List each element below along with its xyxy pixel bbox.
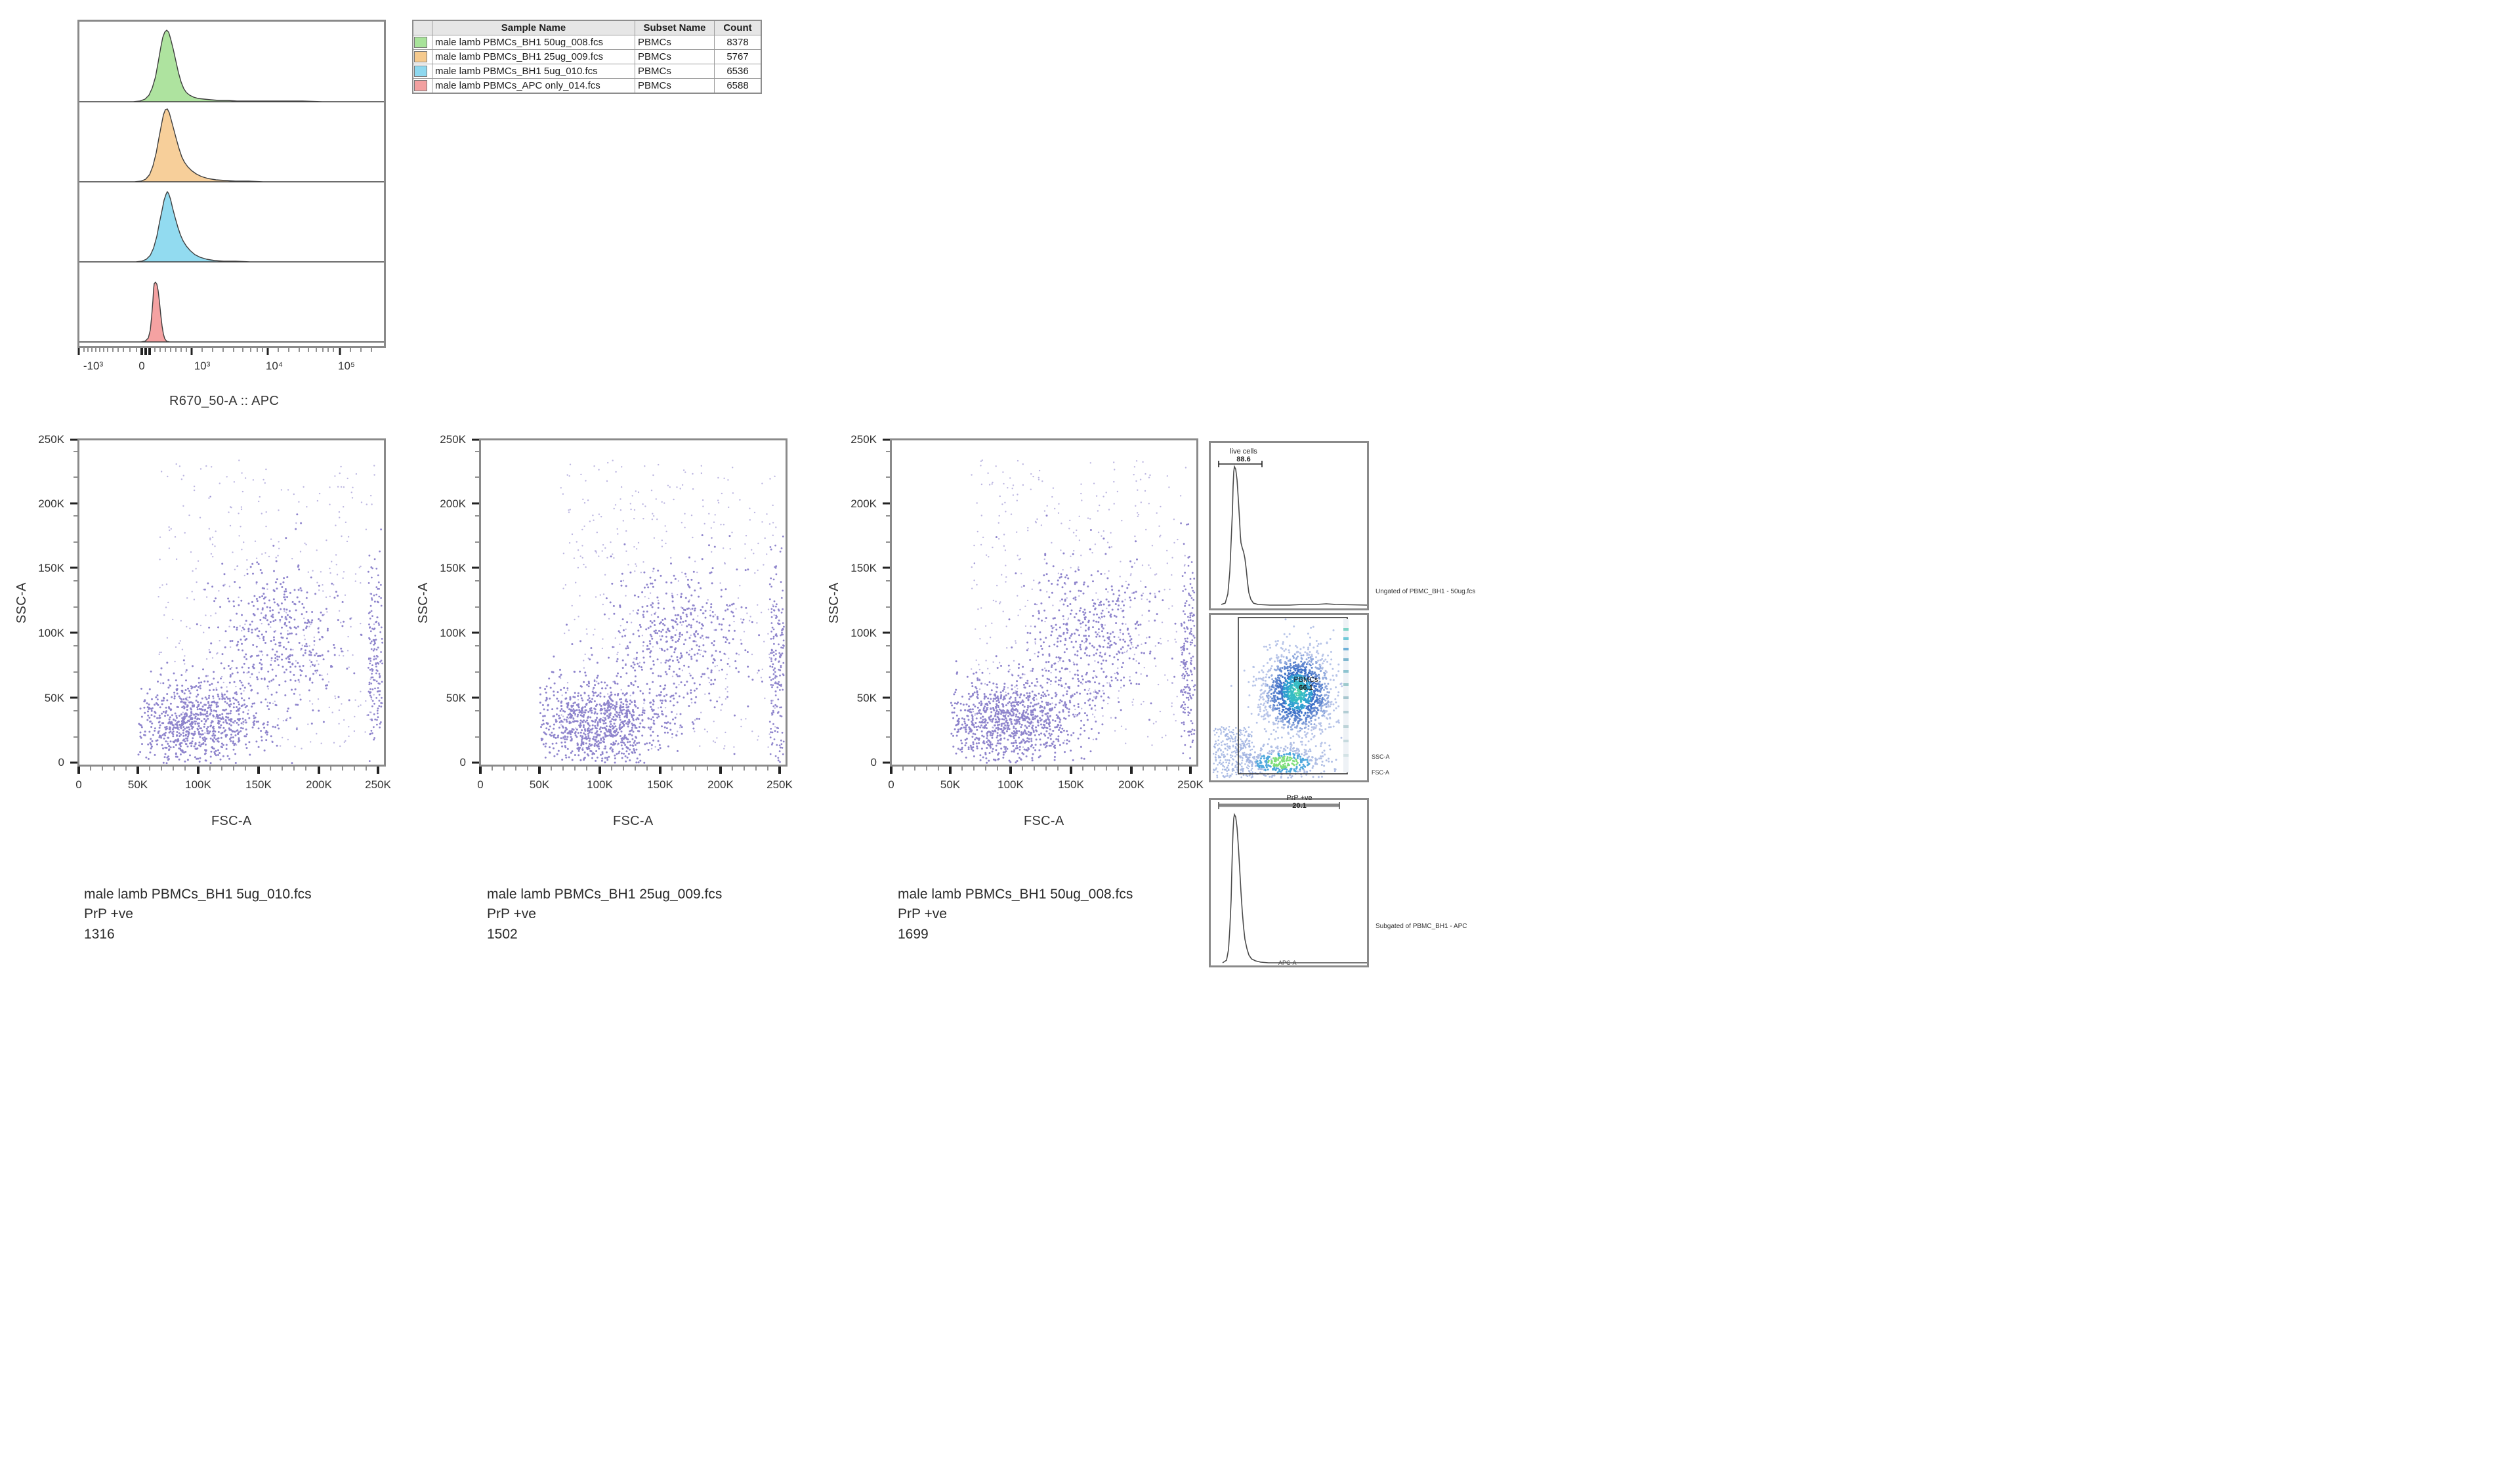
scatter-2-y-axis-label: SSC-A bbox=[416, 582, 431, 623]
gating-panel-top[interactable] bbox=[1209, 441, 1369, 610]
scatter-1-xtick-4: 200K bbox=[304, 778, 333, 792]
scatter-2-xtick-1: 50K bbox=[525, 778, 554, 792]
gate-label-top: live cells bbox=[1224, 448, 1263, 455]
scatter-plot-1-x-axis bbox=[77, 767, 386, 776]
legend-count: 8378 bbox=[715, 35, 762, 50]
scatter-1-xtick-5: 250K bbox=[364, 778, 392, 792]
legend-body: male lamb PBMCs_BH1 50ug_008.fcs PBMCs 8… bbox=[413, 35, 761, 94]
scatter-plot-1[interactable] bbox=[77, 438, 386, 767]
scatter-3-xtick-1: 50K bbox=[936, 778, 965, 792]
density-colour-scale bbox=[1343, 619, 1349, 772]
scatter-3-xtick-3: 150K bbox=[1057, 778, 1085, 792]
legend-header-row: Sample Name Subset Name Count bbox=[413, 20, 761, 35]
gating-bottom-x-axis-label: APC-A bbox=[1278, 960, 1297, 966]
scatter-plot-3-x-axis bbox=[890, 767, 1198, 776]
gating-annotation-bottom: Subgated of PBMC_BH1 - APC bbox=[1375, 923, 1467, 930]
scatter-2-ytick-4: 200K bbox=[436, 497, 466, 511]
legend-header-subset-name: Subset Name bbox=[635, 20, 715, 35]
legend-sample-name: male lamb PBMCs_BH1 5ug_010.fcs bbox=[432, 64, 635, 79]
legend-count: 6536 bbox=[715, 64, 762, 79]
histogram-xtick-3: 10⁴ bbox=[260, 360, 289, 373]
histogram-series-red bbox=[79, 282, 384, 342]
histogram-overlay-svg bbox=[79, 22, 384, 346]
scatter-3-caption-gate: PrP +ve bbox=[898, 904, 1133, 924]
scatter-3-caption: male lamb PBMCs_BH1 50ug_008.fcs PrP +ve… bbox=[898, 885, 1133, 944]
scatter-1-ytick-2: 100K bbox=[34, 627, 64, 640]
scatter-2-xtick-3: 150K bbox=[646, 778, 675, 792]
histogram-overlay-panel[interactable] bbox=[77, 20, 386, 348]
gate-label-bottom-group: PrP +ve 20.1 bbox=[1280, 794, 1319, 810]
histogram-xtick-4: 10⁵ bbox=[332, 360, 361, 373]
legend-swatch-cell[interactable] bbox=[413, 79, 432, 94]
legend-header-count: Count bbox=[715, 20, 762, 35]
scatter-1-ytick-3: 150K bbox=[34, 562, 64, 575]
histogram-x-ticks bbox=[77, 348, 386, 357]
scatter-2-ytick-1: 50K bbox=[436, 692, 466, 705]
scatter-plot-1-y-axis bbox=[66, 438, 77, 767]
scatter-3-x-axis-label: FSC-A bbox=[1024, 814, 1064, 829]
table-row[interactable]: male lamb PBMCs_BH1 50ug_008.fcs PBMCs 8… bbox=[413, 35, 761, 50]
scatter-1-ytick-4: 200K bbox=[34, 497, 64, 511]
legend-sample-name: male lamb PBMCs_APC only_014.fcs bbox=[432, 79, 635, 94]
scatter-2-ytick-0: 0 bbox=[436, 756, 466, 769]
gate-label-middle-group: PBMCs 66.1 bbox=[1286, 676, 1326, 692]
scatter-points bbox=[539, 460, 785, 764]
scatter-points bbox=[950, 459, 1196, 764]
gate-pct-bottom: 20.1 bbox=[1280, 802, 1319, 810]
scatter-3-caption-title: male lamb PBMCs_BH1 50ug_008.fcs bbox=[898, 885, 1133, 904]
histogram-xtick-2: 10³ bbox=[188, 360, 217, 373]
legend-header-sample-name: Sample Name bbox=[432, 20, 635, 35]
scatter-2-xtick-0: 0 bbox=[466, 778, 495, 792]
scatter-3-caption-count: 1699 bbox=[898, 925, 1133, 944]
gating-panel-middle[interactable] bbox=[1209, 613, 1369, 782]
scatter-1-ytick-0: 0 bbox=[34, 756, 64, 769]
scatter-2-ytick-3: 150K bbox=[436, 562, 466, 575]
legend-header-swatch bbox=[413, 20, 432, 35]
scatter-plot-3[interactable] bbox=[890, 438, 1198, 767]
legend-subset-name: PBMCs bbox=[635, 35, 715, 50]
scatter-1-xtick-2: 100K bbox=[184, 778, 213, 792]
scatter-3-ytick-5: 250K bbox=[847, 433, 877, 446]
scatter-1-y-axis-label: SSC-A bbox=[14, 582, 30, 623]
scatter-1-xtick-0: 0 bbox=[64, 778, 93, 792]
scatter-3-ytick-2: 100K bbox=[847, 627, 877, 640]
scatter-2-x-ticks bbox=[479, 767, 787, 776]
scatter-2-xtick-4: 200K bbox=[706, 778, 735, 792]
scatter-3-xtick-0: 0 bbox=[877, 778, 906, 792]
gate-label-bottom: PrP +ve bbox=[1280, 794, 1319, 802]
scatter-1-caption: male lamb PBMCs_BH1 5ug_010.fcs PrP +ve … bbox=[84, 885, 312, 944]
scatter-2-y-ticks bbox=[467, 438, 479, 767]
scatter-2-xtick-2: 100K bbox=[585, 778, 614, 792]
scatter-1-ytick-1: 50K bbox=[34, 692, 64, 705]
gating-annotation-top: Ungated of PBMC_BH1 - 50ug.fcs bbox=[1375, 588, 1475, 595]
gating-middle-svg bbox=[1211, 615, 1367, 780]
scatter-2-caption: male lamb PBMCs_BH1 25ug_009.fcs PrP +ve… bbox=[487, 885, 722, 944]
scatter-3-ytick-3: 150K bbox=[847, 562, 877, 575]
legend-swatch-cell[interactable] bbox=[413, 64, 432, 79]
scatter-1-caption-count: 1316 bbox=[84, 925, 312, 944]
scatter-2-ytick-5: 250K bbox=[436, 433, 466, 446]
scatter-3-y-ticks bbox=[878, 438, 890, 767]
legend-subset-name: PBMCs bbox=[635, 79, 715, 94]
scatter-plot-2-x-axis bbox=[479, 767, 787, 776]
legend-table[interactable]: Sample Name Subset Name Count male lamb … bbox=[412, 20, 762, 94]
gate-pct-middle: 66.1 bbox=[1286, 684, 1326, 692]
gate-label-top-group: live cells 88.6 bbox=[1224, 448, 1263, 463]
scatter-1-caption-gate: PrP +ve bbox=[84, 904, 312, 924]
density-points bbox=[1213, 618, 1343, 778]
gate-range-bottom[interactable] bbox=[1219, 802, 1339, 809]
histogram-x-axis-label: R670_50-A :: APC bbox=[169, 394, 279, 409]
legend-sample-name: male lamb PBMCs_BH1 50ug_008.fcs bbox=[432, 35, 635, 50]
scatter-plot-2[interactable] bbox=[479, 438, 787, 767]
legend-swatch-cell[interactable] bbox=[413, 50, 432, 64]
gate-label-middle: PBMCs bbox=[1286, 676, 1326, 684]
table-row[interactable]: male lamb PBMCs_BH1 25ug_009.fcs PBMCs 5… bbox=[413, 50, 761, 64]
gating-panel-bottom[interactable] bbox=[1209, 798, 1369, 967]
gate-pct-top: 88.6 bbox=[1224, 455, 1263, 463]
scatter-plot-2-svg bbox=[481, 440, 786, 765]
scatter-plot-3-y-axis bbox=[878, 438, 890, 767]
scatter-1-x-axis-label: FSC-A bbox=[211, 814, 252, 829]
scatter-2-caption-count: 1502 bbox=[487, 925, 722, 944]
gating-middle-x-axis-label: FSC-A bbox=[1372, 769, 1389, 776]
histogram-series-blue bbox=[79, 192, 384, 262]
scatter-plot-1-svg bbox=[79, 440, 384, 765]
gating-middle-y-axis-label: SSC-A bbox=[1372, 753, 1390, 760]
legend-subset-name: PBMCs bbox=[635, 64, 715, 79]
scatter-3-ytick-0: 0 bbox=[847, 756, 877, 769]
gating-bottom-svg bbox=[1211, 800, 1367, 965]
legend-sample-name: male lamb PBMCs_BH1 25ug_009.fcs bbox=[432, 50, 635, 64]
color-swatch-icon bbox=[414, 80, 427, 91]
scatter-1-xtick-1: 50K bbox=[123, 778, 152, 792]
scatter-3-x-ticks bbox=[890, 767, 1198, 776]
scatter-2-x-axis-label: FSC-A bbox=[613, 814, 654, 829]
scatter-3-y-axis-label: SSC-A bbox=[827, 582, 842, 623]
scatter-1-caption-title: male lamb PBMCs_BH1 5ug_010.fcs bbox=[84, 885, 312, 904]
scatter-3-ytick-4: 200K bbox=[847, 497, 877, 511]
scatter-3-ytick-1: 50K bbox=[847, 692, 877, 705]
scatter-2-xtick-5: 250K bbox=[765, 778, 794, 792]
scatter-3-xtick-2: 100K bbox=[996, 778, 1025, 792]
scatter-plot-3-svg bbox=[892, 440, 1196, 765]
scatter-2-caption-gate: PrP +ve bbox=[487, 904, 722, 924]
scatter-3-xtick-4: 200K bbox=[1117, 778, 1146, 792]
legend-subset-name: PBMCs bbox=[635, 50, 715, 64]
gating-top-svg bbox=[1211, 443, 1367, 608]
legend-swatch-cell[interactable] bbox=[413, 35, 432, 50]
scatter-2-ytick-2: 100K bbox=[436, 627, 466, 640]
color-swatch-icon bbox=[414, 51, 427, 62]
scatter-plot-2-y-axis bbox=[467, 438, 479, 767]
legend-count: 5767 bbox=[715, 50, 762, 64]
color-swatch-icon bbox=[414, 66, 427, 77]
legend-count: 6588 bbox=[715, 79, 762, 94]
histogram-xtick-0: -10³ bbox=[79, 360, 108, 373]
table-row[interactable]: male lamb PBMCs_BH1 5ug_010.fcs PBMCs 65… bbox=[413, 64, 761, 79]
scatter-1-xtick-3: 150K bbox=[244, 778, 273, 792]
scatter-2-caption-title: male lamb PBMCs_BH1 25ug_009.fcs bbox=[487, 885, 722, 904]
histogram-series-orange bbox=[79, 109, 384, 182]
color-swatch-icon bbox=[414, 37, 427, 48]
table-row[interactable]: male lamb PBMCs_APC only_014.fcs PBMCs 6… bbox=[413, 79, 761, 94]
histogram-xtick-1: 0 bbox=[127, 360, 156, 373]
histogram-series-green bbox=[79, 30, 384, 102]
scatter-points bbox=[138, 459, 384, 764]
histogram-x-axis bbox=[77, 348, 386, 357]
scatter-3-xtick-5: 250K bbox=[1176, 778, 1205, 792]
scatter-1-x-ticks bbox=[77, 767, 386, 776]
scatter-1-ytick-5: 250K bbox=[34, 433, 64, 446]
scatter-1-y-ticks bbox=[66, 438, 77, 767]
